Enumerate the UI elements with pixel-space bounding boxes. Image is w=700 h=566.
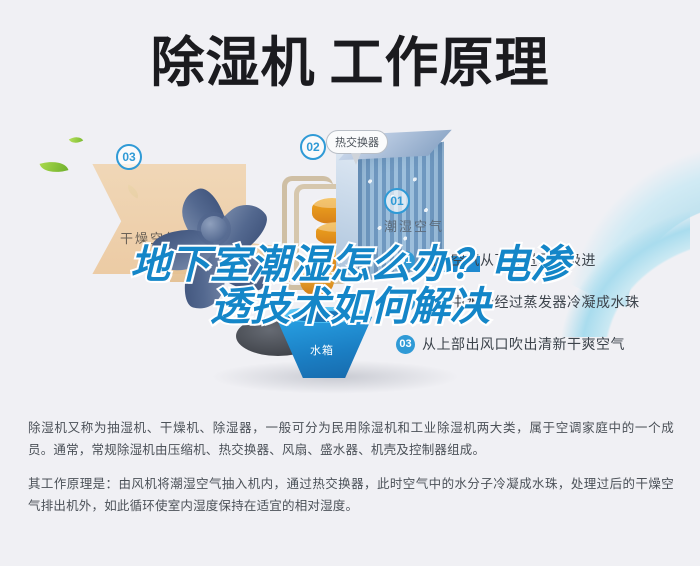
humid-air-label: 潮湿空气 xyxy=(384,216,444,235)
illustration-stage: 干燥空气 xyxy=(0,104,700,404)
page-title: 除湿机工作原理 xyxy=(0,24,700,102)
fan-icon xyxy=(150,164,278,294)
list-item: 01 潮湿空气从下部进风口吸进 xyxy=(396,250,696,270)
step-text: 从上部出风口吹出清新干爽空气 xyxy=(422,334,625,354)
paragraph-1: 除湿机又称为抽湿机、干燥机、除湿器，一般可分为民用除湿机和工业除湿机两大类，属于… xyxy=(28,418,674,462)
water-tank-label: 水箱 xyxy=(310,342,334,358)
fan-hub xyxy=(201,216,227,242)
badge-03: 03 xyxy=(116,144,142,170)
step-text: 潮湿空气从下部进风口吸进 xyxy=(422,250,596,270)
step-list: 01 潮湿空气从下部进风口吸进 02 空气中水分经过蒸发器冷凝成水珠 03 从上… xyxy=(396,250,696,376)
body-copy: 除湿机又称为抽湿机、干燥机、除湿器，一般可分为民用除湿机和工业除湿机两大类，属于… xyxy=(28,418,674,518)
list-item: 02 空气中水分经过蒸发器冷凝成水珠 xyxy=(396,292,696,312)
water-tank-opening xyxy=(288,311,360,322)
list-item: 03 从上部出风口吹出清新干爽空气 xyxy=(396,334,696,354)
paragraph-2: 其工作原理是：由风机将潮湿空气抽入机内，通过热交换器，此时空气中的水分子冷凝成水… xyxy=(28,474,674,518)
title-text: 除湿机工作原理 xyxy=(151,36,550,90)
leaf-icon xyxy=(40,157,69,178)
badge-02: 02 xyxy=(300,134,326,160)
step-text: 空气中水分经过蒸发器冷凝成水珠 xyxy=(422,292,640,312)
leaf-icon xyxy=(69,134,83,147)
title-part-1: 除湿机 xyxy=(151,31,316,94)
step-number: 03 xyxy=(396,335,415,354)
title-part-2: 工作原理 xyxy=(330,31,550,94)
infographic-page: 除湿机工作原理 干燥空气 xyxy=(0,0,700,566)
badge-01: 01 xyxy=(384,188,410,214)
step-number: 01 xyxy=(396,251,415,270)
step-number: 02 xyxy=(396,293,415,312)
heat-exchanger-tooltip: 热交换器 xyxy=(326,130,388,154)
